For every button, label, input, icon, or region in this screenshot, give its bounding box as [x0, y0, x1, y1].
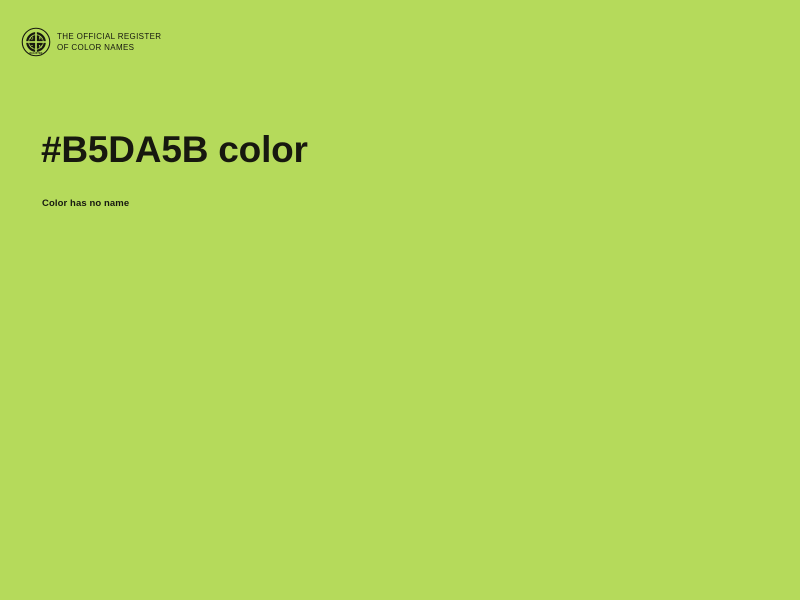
svg-text:REGISTER: REGISTER	[30, 53, 43, 55]
svg-text:C: C	[30, 44, 33, 49]
color-info-block: #B5DA5B color Color has no name	[41, 128, 741, 210]
brand-lockup[interactable]: O R C N REGISTER THE OFFICIAL REGISTER O…	[21, 27, 161, 57]
color-detail-page: O R C N REGISTER THE OFFICIAL REGISTER O…	[0, 0, 800, 600]
svg-text:R: R	[39, 36, 42, 41]
official-register-seal-icon: O R C N REGISTER	[21, 27, 51, 57]
color-name-status: Color has no name	[41, 172, 741, 210]
brand-line-2: OF COLOR NAMES	[57, 43, 161, 54]
page-title: #B5DA5B color	[41, 128, 741, 172]
brand-wordmark: THE OFFICIAL REGISTER OF COLOR NAMES	[57, 31, 161, 53]
brand-line-1: THE OFFICIAL REGISTER	[57, 32, 161, 43]
svg-text:N: N	[39, 44, 42, 49]
